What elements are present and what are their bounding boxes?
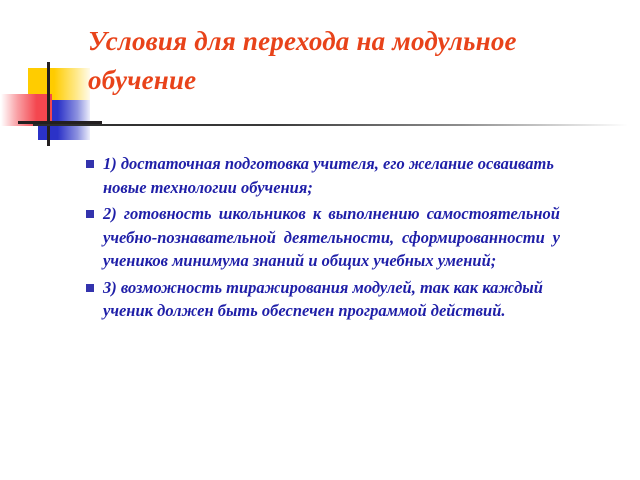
- list-item: 2) готовность школьников к выполнению са…: [86, 202, 560, 273]
- list-item-text: 3) возможность тиражирования модулей, та…: [103, 276, 560, 323]
- list-item-text: 2) готовность школьников к выполнению са…: [103, 202, 560, 273]
- decorative-red-square: [1, 94, 52, 126]
- decorative-vertical-line: [47, 62, 50, 146]
- slide-title: Условия для перехода на модульное обучен…: [88, 22, 558, 100]
- bullet-list: 1) достаточная подготовка учителя, его ж…: [86, 152, 560, 326]
- decorative-yellow-square: [28, 68, 90, 112]
- decorative-blue-square: [38, 100, 90, 140]
- slide-canvas: Условия для перехода на модульное обучен…: [0, 0, 640, 480]
- list-item: 1) достаточная подготовка учителя, его ж…: [86, 152, 560, 199]
- square-bullet-icon: [86, 160, 94, 168]
- square-bullet-icon: [86, 284, 94, 292]
- list-item: 3) возможность тиражирования модулей, та…: [86, 276, 560, 323]
- title-divider-rule: [33, 124, 628, 126]
- list-item-text: 1) достаточная подготовка учителя, его ж…: [103, 152, 560, 199]
- square-bullet-icon: [86, 210, 94, 218]
